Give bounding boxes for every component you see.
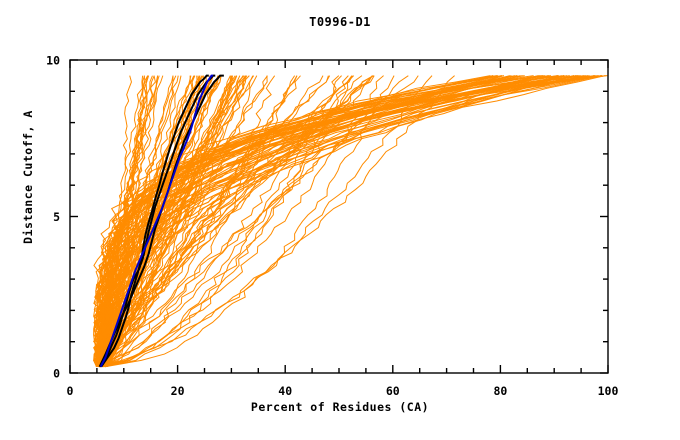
x-axis-tick-label: 40 (278, 384, 292, 398)
series-layer (94, 76, 608, 367)
y-axis-tick-label: 5 (53, 210, 60, 224)
x-axis-tick-label: 20 (171, 384, 185, 398)
x-axis-tick-label: 100 (598, 384, 619, 398)
x-axis-tick-label: 80 (493, 384, 507, 398)
y-axis-tick-label: 0 (53, 367, 60, 381)
x-axis-tick-label: 0 (67, 384, 74, 398)
y-axis-tick-label: 10 (46, 54, 60, 68)
plot-canvas: 0204060801000510 (0, 0, 680, 440)
chart-root: T0996-D1 Distance Cutoff, A Percent of R… (0, 0, 680, 440)
x-axis-tick-label: 60 (386, 384, 400, 398)
